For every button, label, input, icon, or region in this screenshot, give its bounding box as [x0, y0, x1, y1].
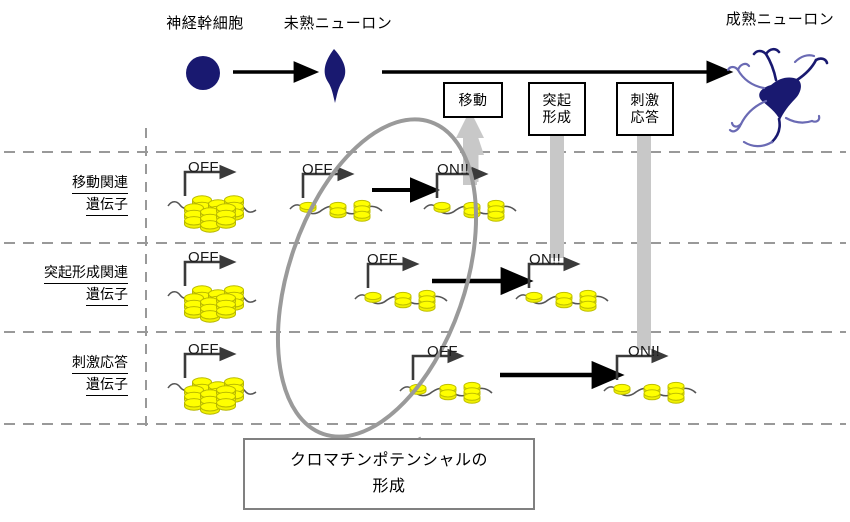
stage-label-neural-stem-cell: 神経幹細胞	[150, 12, 260, 33]
row2-open-chromatin-1	[355, 290, 447, 311]
row2-closed-chromatin	[168, 286, 256, 322]
row2-open-chromatin-2	[516, 290, 608, 311]
caption-line-2: 形成	[372, 474, 405, 500]
state-label-row2-2: OFF	[367, 251, 398, 268]
row-label-neurite-line-1: 突起形成関連	[44, 262, 128, 284]
row-label-stimulus-line-2: 遺伝子	[86, 374, 128, 396]
row-label-neurite-line-2: 遺伝子	[86, 284, 128, 306]
row3-closed-chromatin	[168, 378, 256, 414]
row3-open-chromatin-2	[604, 382, 696, 403]
stage-label-immature-neuron: 未熟ニューロン	[268, 12, 408, 33]
gray-up-arrows	[464, 105, 658, 350]
state-label-row3-1: OFF	[188, 341, 219, 358]
row-label-stimulus-genes: 刺激応答 遺伝子	[0, 352, 128, 396]
caption-box-chromatin-potential[interactable]: クロマチンポテンシャルの 形成	[243, 438, 535, 510]
row-label-migration-line-2: 遺伝子	[86, 194, 128, 216]
neural-stem-cell-glyph	[186, 56, 220, 90]
row1-closed-chromatin	[168, 196, 256, 232]
state-label-row1-2: OFF	[302, 161, 333, 178]
process-box-neurite-line-2: 形成	[543, 109, 572, 126]
process-box-migration-line-1: 移動	[459, 92, 488, 109]
process-box-stimulus-line-1: 刺激	[631, 92, 660, 109]
caption-line-1: クロマチンポテンシャルの	[290, 448, 488, 474]
immature-neuron-glyph	[325, 49, 346, 103]
gray-arrow-stimulus	[630, 105, 658, 350]
state-label-row3-2: OFF	[427, 343, 458, 360]
mature-neuron-glyph	[728, 49, 827, 146]
row-label-stimulus-line-1: 刺激応答	[72, 352, 128, 374]
process-box-stimulus-response[interactable]: 刺激 応答	[616, 82, 674, 136]
row-label-migration-line-1: 移動関連	[72, 172, 128, 194]
stage-label-mature-neuron: 成熟ニューロン	[710, 8, 850, 29]
state-label-row2-1: OFF	[188, 249, 219, 266]
row-separators	[4, 152, 846, 424]
state-label-row1-3: ON!!	[437, 161, 469, 178]
process-box-stimulus-line-2: 応答	[631, 109, 660, 126]
state-label-row3-3: ON!!	[628, 343, 660, 360]
process-box-neurite-formation[interactable]: 突起 形成	[528, 82, 586, 136]
row-label-neurite-genes: 突起形成関連 遺伝子	[0, 262, 128, 306]
state-label-row2-3: ON!!	[529, 251, 561, 268]
row1-open-chromatin-1	[290, 200, 382, 221]
state-label-row1-1: OFF	[188, 159, 219, 176]
diagram-canvas: 神経幹細胞 未熟ニューロン 成熟ニューロン 移動 突起 形成 刺激 応答 移動関…	[0, 0, 850, 522]
row2-chromatin-panels	[168, 262, 608, 322]
row1-open-chromatin-2	[424, 200, 516, 221]
process-box-neurite-line-1: 突起	[543, 92, 572, 109]
process-box-migration[interactable]: 移動	[443, 82, 503, 118]
row-label-migration-genes: 移動関連 遺伝子	[0, 172, 128, 216]
